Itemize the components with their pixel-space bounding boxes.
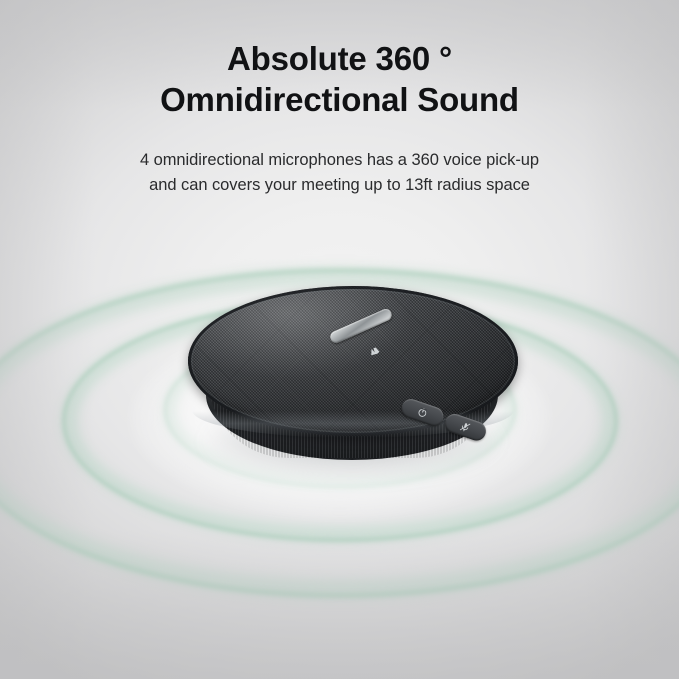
page-title-line-1: Absolute 360 ° — [0, 38, 679, 79]
page-subtitle-line-2: and can covers your meeting up to 13ft r… — [0, 173, 679, 198]
product-feature-graphic: Absolute 360 ° Omnidirectional Sound 4 o… — [0, 0, 679, 679]
page-title-line-2: Omnidirectional Sound — [0, 79, 679, 120]
product-mesh-top — [188, 286, 518, 436]
page-subtitle: 4 omnidirectional microphones has a 360 … — [0, 120, 679, 198]
headline-block: Absolute 360 ° Omnidirectional Sound 4 o… — [0, 0, 679, 198]
product-top-shading — [188, 286, 518, 436]
nfc-icon — [367, 342, 380, 354]
page-subtitle-line-1: 4 omnidirectional microphones has a 360 … — [0, 148, 679, 173]
page-title: Absolute 360 ° Omnidirectional Sound — [0, 38, 679, 120]
product-speakerphone — [182, 286, 524, 466]
